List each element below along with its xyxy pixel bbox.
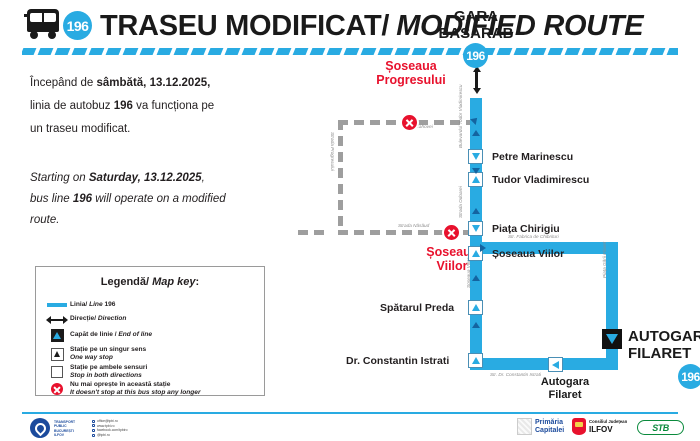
stop-marker-autogara-filaret[interactable] [548,357,563,372]
primaria-capitalei-logo: Primăria Capitalei [517,418,564,435]
intro-en-part1: Starting on [30,172,89,184]
dash-tick [55,48,71,55]
removed-stop-marker-progresului[interactable] [400,113,419,132]
dash-tick [344,48,360,55]
stop-label-spatarul-preda: Spătarul Preda [380,302,454,314]
street-label-soseaua-viilor: Șoseaua Viilor [466,258,471,288]
flow-arrow-down-1 [472,168,480,174]
poster-header: 196 TRASEU MODIFICAT/ MODIFIED ROUTE [0,0,700,58]
dash-tick [412,48,428,55]
consiliul-judetean-ilfov-logo: Consiliul Județean ILFOV [572,418,627,435]
one-way-stop-icon [44,348,70,361]
stop-label-petre-marinescu: Petre Marinescu [492,151,573,163]
route-map: GARA BASARAB 196 Petre Marinescu Tudor V… [280,60,700,408]
dash-tick [22,48,36,55]
dash-tick [633,48,649,55]
stop-label-dr-constantin-istrati: Dr. Constantin Istrati [346,355,449,367]
intro-text-romanian: Începând de sâmbătă, 13.12.2025, linia d… [30,72,260,141]
intro-ro-part1: Începând de [30,77,97,89]
dash-tick [208,48,224,55]
end-of-line-icon [44,329,70,342]
legend-item-line: Linia/ Line 196 [44,301,259,309]
dash-tick [361,48,377,55]
dash-tick [310,48,326,55]
legend-item-end-of-line-label: Capăt de linie / End of line [70,331,152,339]
legend-item-no-stop-label: Nu mai oprește în această stație It does… [70,381,201,398]
legend-item-direction: Direcție/ Direction [44,315,259,324]
tpbi-contact-list: office@tpbi.ro www.tpbi.ro facebook.com/… [92,419,128,437]
stb-logo: STB [637,420,684,435]
intro-ro-part3: va funcționa pe [133,100,214,112]
terminus-north-label: GARA BASARAB [396,8,556,42]
street-label-strada-progresului: Strada Progresului [330,132,335,171]
intro-ro-date: sâmbătă, 13.12.2025, [97,77,211,89]
legend-item-direction-label: Direcție/ Direction [70,315,126,323]
intro-en-part3: will operate on a modified [92,193,226,205]
flow-arrow-up-2 [472,208,480,214]
dash-tick [548,48,564,55]
dash-tick [565,48,581,55]
removed-stop-label-viilor: Șoseaua Viilor [377,245,527,273]
dash-tick [89,48,105,55]
dash-tick [72,48,88,55]
intro-en-part4: route. [30,214,59,226]
stop-marker-petre-marinescu[interactable] [468,149,483,164]
tpbi-logo-text: TRANSPORT PUBLIC BUCUREȘTI ILFOV [54,420,75,437]
street-label-bd-tudor-vladimirescu: Bulevardul Tudor Vladimirescu [458,85,463,148]
dash-tick [242,48,258,55]
removed-stop-marker-viilor[interactable] [442,223,461,242]
street-label-strada-odoarei: Strada Odoarei [458,186,463,218]
end-of-line-marker-filaret[interactable] [602,329,622,349]
legend-title-en: Map key [152,276,195,288]
dash-tick [259,48,275,55]
both-ways-stop-icon [44,366,70,378]
dash-tick [157,48,173,55]
dash-tick [446,48,462,55]
email-icon [92,420,95,423]
stop-marker-tudor-vladimirescu[interactable] [468,172,483,187]
intro-en-date: Saturday, 13.12.2025 [89,172,202,184]
intro-text-english: Starting on Saturday, 13.12.2025, bus li… [30,168,260,231]
dash-tick [327,48,343,55]
dash-tick [650,48,666,55]
tpbi-logo-icon [30,418,50,438]
flow-arrow-right-1 [480,244,486,252]
dash-tick [106,48,122,55]
dash-tick [582,48,598,55]
stop-label-tudor-vladimirescu: Tudor Vladimirescu [492,174,589,186]
contact-handle: @tpbi.ro [92,433,128,438]
legend-item-end-of-line: Capăt de linie / End of line [44,329,259,342]
route-line-loop-right [606,242,618,370]
dash-tick [667,48,678,55]
stop-marker-piata-chirigiu[interactable] [468,221,483,236]
street-label-fabrica-de-chibrituri: Str. Fabrica de Chibrituri [508,234,559,239]
direction-arrow-north [472,66,481,94]
poster-footer: TRANSPORT PUBLIC BUCUREȘTI ILFOV office@… [0,416,700,441]
intro-en-part2: bus line [30,193,73,205]
stop-marker-dr-constantin-istrati[interactable] [468,353,483,368]
legend-title-ro: Legendă/ [101,276,152,288]
street-label-dr-constantin-istrati: Str. Dr. Constantin Istrati [490,372,541,377]
bus-icon [24,9,62,41]
dash-tick [514,48,530,55]
line-badge-south: 196 [678,364,700,389]
flow-arrow-up-1 [472,130,480,136]
legend-title-colon: : [196,276,200,288]
flow-arrow-up-3 [472,275,480,281]
double-arrow-icon [44,315,70,324]
legend-item-line-label: Linia/ Line 196 [70,301,115,309]
dash-tick [174,48,190,55]
stb-logo-text: STB [652,423,669,433]
legend-item-no-stop: Nu mai oprește în această stație It does… [44,381,259,398]
legend-title: Legendă/ Map key: [36,276,264,288]
decorative-dashed-rule [22,48,678,55]
route-change-poster: 196 TRASEU MODIFICAT/ MODIFIED ROUTE Înc… [0,0,700,441]
dash-tick [429,48,445,55]
ilfov-shield-icon [572,418,586,435]
dash-tick [276,48,292,55]
intro-ro-line: 196 [114,100,133,112]
intro-ro-part2: linia de autobuz [30,100,114,112]
dash-tick [38,48,54,55]
intro-en-comma: , [202,172,205,184]
dash-tick [378,48,394,55]
map-legend: Legendă/ Map key: Linia/ Line 196 Direcț… [35,266,265,396]
dash-tick [599,48,615,55]
street-label-piata-garii-filaret: Piața Gării Filaret [602,242,607,278]
legend-item-one-way-stop: Stație pe un singur sens One way stop [44,346,259,363]
title-romanian: TRASEU MODIFICAT/ [100,10,389,43]
terminus-south-label: AUTOGARA FILARET [628,328,700,362]
legend-item-both-ways-stop: Stație pe ambele sensuri Stop in both di… [44,364,259,381]
dash-tick [123,48,139,55]
line-badge-header: 196 [63,11,92,40]
dash-tick [395,48,411,55]
at-icon [92,434,95,437]
terminus-south-small-label: Autogara Filaret [510,376,620,402]
ilfov-logo-text: Consiliul Județean ILFOV [589,419,627,434]
intro-ro-part4: un traseu modificat. [30,123,130,135]
footer-divider [22,412,678,414]
no-stop-icon [44,383,70,395]
dash-tick [225,48,241,55]
dash-tick [293,48,309,55]
street-label-strada-nasaud: Strada Năsăud [398,223,429,228]
dash-tick [191,48,207,55]
pmb-logo-text: Primăria Capitalei [535,419,564,435]
route-line-loop-bottom [470,358,618,370]
dash-tick [140,48,156,55]
line-swatch-icon [44,303,70,307]
intro-en-line: 196 [73,193,92,205]
stop-marker-spatarul-preda[interactable] [468,300,483,315]
dash-tick [497,48,513,55]
dashed-route-left [338,120,343,235]
legend-item-both-ways-stop-label: Stație pe ambele sensuri Stop in both di… [70,364,147,381]
dash-tick [531,48,547,55]
legend-item-one-way-stop-label: Stație pe un singur sens One way stop [70,346,146,363]
removed-stop-label-progresului: Șoseaua Progresului [336,59,486,87]
pmb-crest-icon [517,418,532,435]
globe-icon [92,424,95,427]
page-title: TRASEU MODIFICAT/ MODIFIED ROUTE [100,8,643,44]
dashed-route-bottom-west [298,230,334,235]
line-badge-north: 196 [463,43,488,68]
dash-tick [616,48,632,55]
facebook-icon [92,429,95,432]
flow-arrow-up-4 [472,322,480,328]
